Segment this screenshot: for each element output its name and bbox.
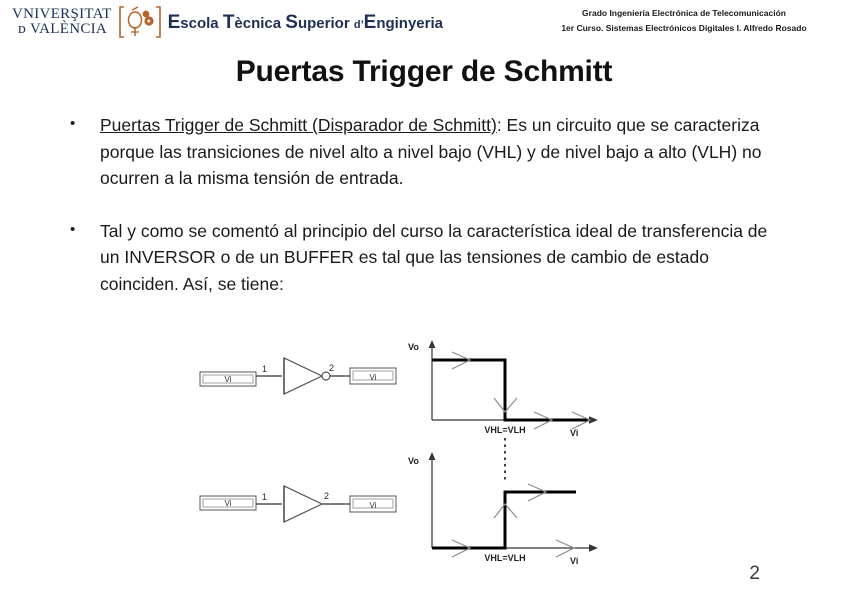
list-item: • Puertas Trigger de Schmitt (Disparador…	[66, 112, 786, 192]
graph-bottom-curve	[432, 492, 576, 548]
list-item: • Tal y como se comentó al principio del…	[66, 218, 786, 298]
slide-header: Vniverşitat ᴅ València Escola Tècnica Su…	[0, 0, 848, 46]
bullet-marker: •	[66, 218, 100, 242]
inverter-pin-in-label: 1	[262, 364, 267, 374]
university-wordmark: Vniverşitat ᴅ València	[12, 7, 112, 38]
school-name: Escola Tècnica Superior d’Enginyeria	[168, 12, 443, 34]
bullet-body: Tal y como se comentó al principio del c…	[100, 221, 767, 294]
inverter-output-label: Vi	[370, 373, 377, 382]
buffer-input-label: Vi	[225, 499, 232, 508]
bullet-underlined-term: Puertas Trigger de Schmitt (Disparador d…	[100, 115, 497, 135]
graph-bottom-y-label: Vo	[408, 456, 419, 466]
graph-top-x-label: Vi	[570, 428, 578, 438]
school-w1-cap: E	[168, 12, 181, 33]
bullet-text: Tal y como se comentó al principio del c…	[100, 218, 786, 298]
buffer-output-label: Vi	[370, 501, 377, 510]
graph-top-threshold-label: VHL=VLH	[484, 425, 525, 435]
school-w3-rest: uperior	[298, 15, 350, 32]
graph-top-curve	[432, 360, 588, 420]
graph-bottom-direction-arrows-icon	[452, 484, 574, 557]
graph-top-y-label: Vo	[408, 342, 419, 352]
bullet-list: • Puertas Trigger de Schmitt (Disparador…	[66, 112, 786, 298]
figures-svg: 1 2 Vi Vi Vo Vi VH	[0, 330, 848, 570]
page-title: Puertas Trigger de Schmitt	[0, 55, 848, 89]
university-emblem-icon	[118, 5, 162, 39]
university-name-line1: Vniverşitat	[12, 7, 112, 22]
inverter-triangle	[284, 358, 322, 394]
bullet-text: Puertas Trigger de Schmitt (Disparador d…	[100, 112, 786, 192]
bullet-marker: •	[66, 112, 100, 136]
inverter-bubble-icon	[322, 372, 330, 380]
buffer-pin-in-label: 1	[262, 492, 267, 502]
buffer-symbol: 1 2 Vi Vi	[200, 486, 396, 522]
page-number: 2	[749, 563, 760, 585]
course-subject: 1er Curso. Sistemas Electrónicos Digital…	[520, 21, 848, 36]
inverter-pin-out-label: 2	[329, 363, 334, 373]
school-w4-prefix: d’	[354, 19, 364, 31]
school-w3-cap: S	[285, 12, 298, 33]
inverter-symbol: 1 2 Vi Vi	[200, 358, 396, 394]
school-w1-rest: scola	[180, 15, 218, 32]
buffer-pin-out-label: 2	[324, 491, 329, 501]
inverter-transfer-graph: Vo Vi VHL=VLH	[408, 340, 598, 438]
buffer-triangle	[284, 486, 322, 522]
school-w2-rest: ècnica	[234, 15, 281, 32]
school-w4-cap: E	[364, 12, 377, 33]
school-w4-rest: nginyeria	[376, 15, 443, 32]
figure-area: 1 2 Vi Vi Vo Vi VH	[0, 330, 848, 570]
course-info: Grado Ingeniería Electrónica de Telecomu…	[520, 6, 848, 36]
buffer-transfer-graph: Vo Vi VHL=VLH	[408, 438, 598, 566]
inverter-input-label: Vi	[225, 375, 232, 384]
course-degree: Grado Ingeniería Electrónica de Telecomu…	[520, 6, 848, 21]
university-logo: Vniverşitat ᴅ València Escola Tècnica Su…	[12, 5, 443, 39]
graph-top-y-arrowhead-icon	[429, 340, 436, 348]
graph-bottom-x-arrowhead-icon	[589, 544, 598, 552]
graph-bottom-y-arrowhead-icon	[429, 452, 436, 460]
university-name-line2: ᴅ València	[12, 22, 112, 37]
graph-top-direction-arrows-icon	[452, 352, 590, 429]
graph-bottom-x-label: Vi	[570, 556, 578, 566]
graph-bottom-threshold-label: VHL=VLH	[484, 553, 525, 563]
school-w2-cap: T	[223, 12, 235, 33]
